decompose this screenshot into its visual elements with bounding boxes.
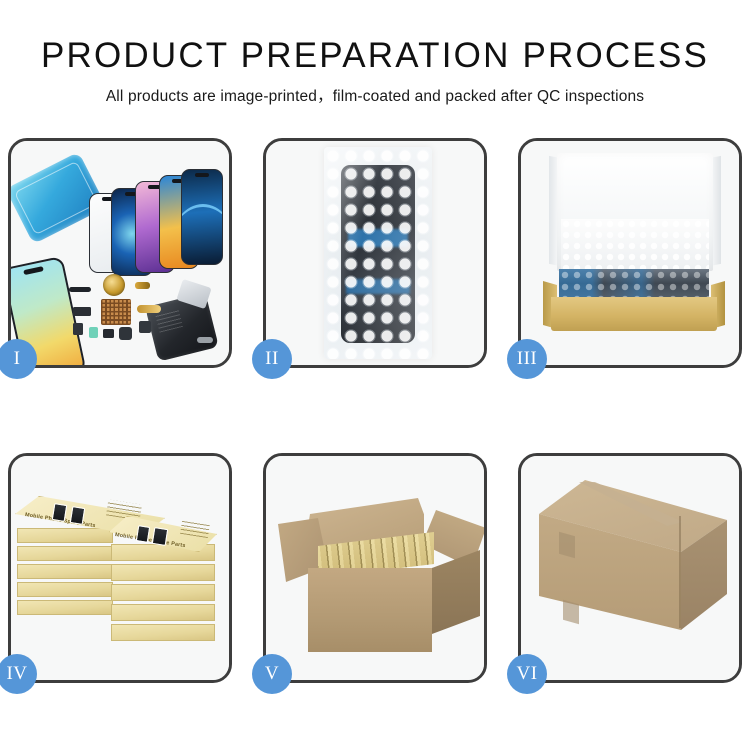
packing-tape-graphic (559, 532, 575, 559)
screw-set-graphic (197, 337, 213, 343)
flex-cable-graphic (69, 287, 91, 292)
retail-box-graphic (17, 564, 113, 579)
carton-edge-graphic (679, 516, 681, 628)
process-step-card-3: III (518, 138, 742, 368)
gold-connector-graphic (135, 282, 150, 289)
step-badge-3: III (507, 339, 547, 379)
carton-side-graphic (432, 550, 480, 634)
step-badge-5: V (252, 654, 292, 694)
process-step-card-6: VI (518, 453, 742, 683)
page-title: PRODUCT PREPARATION PROCESS (0, 34, 750, 78)
small-part-graphic (73, 307, 91, 316)
box-product-thumbnail (136, 525, 150, 543)
step-badge-2: II (252, 339, 292, 379)
phone-housing-graphic (145, 292, 219, 361)
step-badge-4: IV (0, 654, 37, 694)
step-badge-6: VI (507, 654, 547, 694)
retail-box-graphic (111, 624, 215, 641)
small-part-graphic (103, 329, 114, 338)
box-product-thumbnail (52, 503, 67, 522)
process-step-card-4: Mobile Phone Spare Parts Mobile Phone Sp… (8, 453, 232, 683)
gold-connector-graphic (137, 305, 161, 313)
step-1-illustration (11, 141, 229, 365)
process-step-card-1: I (8, 138, 232, 368)
step-6-illustration (521, 456, 739, 680)
step-4-illustration: Mobile Phone Spare Parts Mobile Phone Sp… (11, 456, 229, 680)
step-badge-1: I (0, 339, 37, 379)
retail-box-graphic (111, 604, 215, 621)
retail-box-graphic (17, 582, 113, 597)
battery-part-graphic (89, 327, 98, 338)
small-part-graphic (73, 323, 83, 335)
retail-box-graphic (111, 584, 215, 601)
plastic-sheen-graphic (324, 147, 432, 359)
packing-tape-graphic (563, 600, 579, 625)
step-5-illustration (266, 456, 484, 680)
grille-mesh-graphic (101, 299, 131, 325)
process-step-card-5: V (263, 453, 487, 683)
process-step-card-2: II (263, 138, 487, 368)
speaker-coil-graphic (103, 274, 125, 296)
step-3-illustration (521, 141, 739, 365)
retail-box-graphic (17, 546, 113, 561)
step-2-illustration (266, 141, 484, 365)
camera-module-graphic (119, 327, 132, 340)
retail-box-graphic (17, 528, 113, 543)
bubble-wrap-bag-graphic (324, 147, 432, 359)
box-product-thumbnail (70, 506, 85, 525)
phone-screen-darkblue-graphic (181, 169, 223, 265)
small-part-graphic (139, 321, 151, 333)
process-steps-grid: I II III (8, 138, 742, 683)
retail-box-graphic (17, 600, 113, 615)
foam-padding-graphic (561, 219, 709, 275)
box-product-thumbnail (152, 527, 168, 546)
retail-box-graphic (111, 564, 215, 581)
page-subtitle: All products are image-printed，film-coat… (0, 85, 750, 109)
header: PRODUCT PREPARATION PROCESS All products… (0, 0, 750, 109)
box-front-graphic (551, 297, 717, 331)
carton-front-graphic (308, 568, 432, 652)
